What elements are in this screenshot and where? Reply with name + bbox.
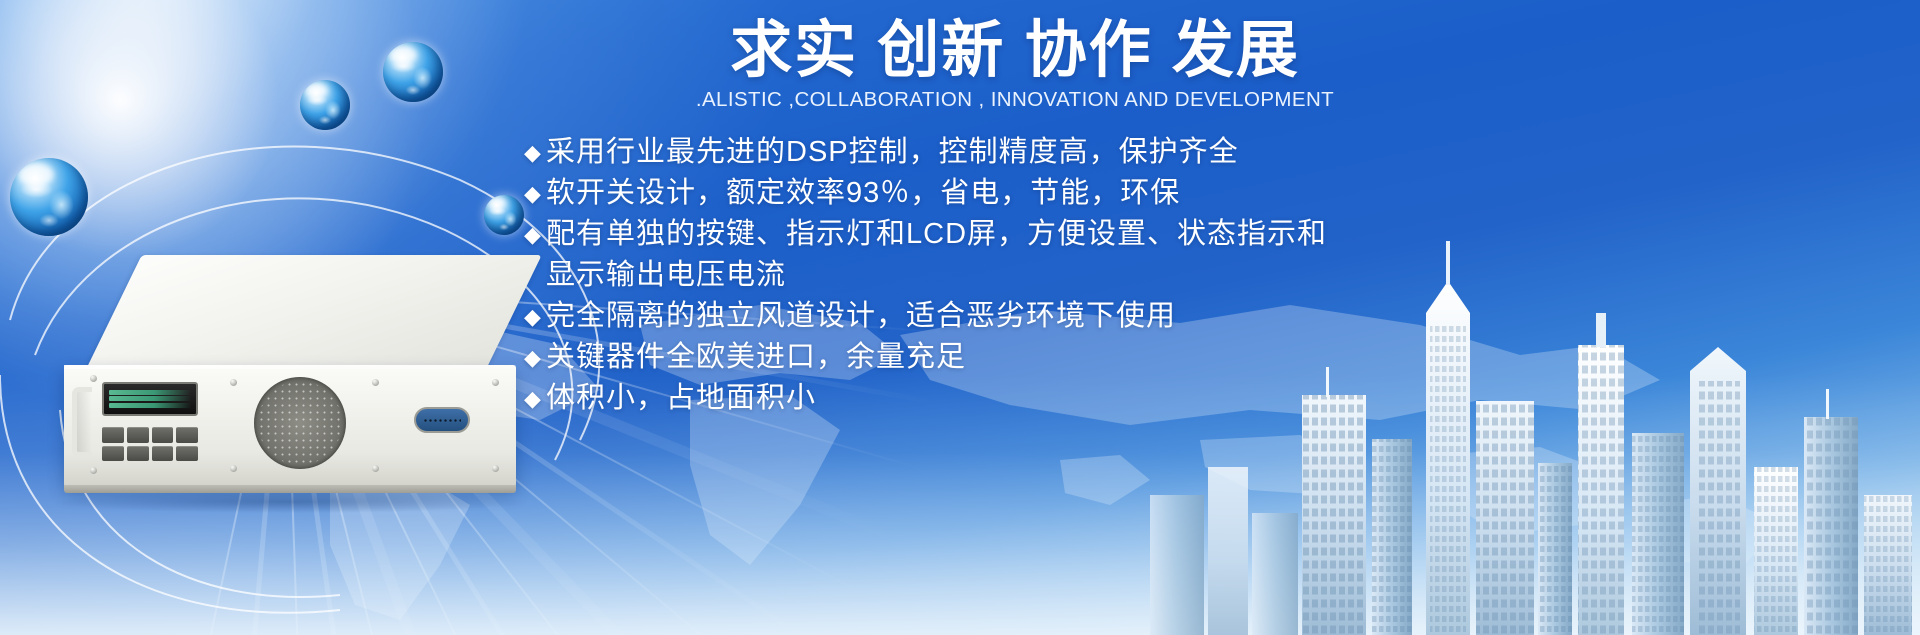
- screw: [230, 465, 237, 472]
- subheadline: .ALISTIC ,COLLABORATION , INNOVATION AND…: [515, 88, 1515, 112]
- diamond-bullet-icon: ◆: [524, 378, 546, 419]
- feature-text: 完全隔离的独立风道设计，适合恶劣环境下使用: [546, 296, 1176, 337]
- ventilation-fan: [254, 377, 346, 469]
- lcd-display: [102, 382, 198, 416]
- screw: [90, 375, 97, 382]
- diamond-bullet-icon: ◆: [524, 337, 546, 378]
- product-bottom-edge: [64, 485, 516, 493]
- globe-icon: [10, 158, 88, 236]
- screw: [90, 467, 97, 474]
- screw: [492, 379, 499, 386]
- feature-text: 关键器件全欧美进口，余量充足: [546, 337, 966, 378]
- keypad: [102, 427, 198, 461]
- feature-text: 体积小，占地面积小: [546, 378, 816, 419]
- feature-text: 采用行业最先进的DSP控制，控制精度高，保护齐全: [546, 132, 1239, 173]
- diamond-bullet-icon: ◆: [524, 296, 546, 337]
- feature-item: ◆ 配有单独的按键、指示灯和LCD屏，方便设置、状态指示和: [524, 214, 1515, 255]
- feature-item: ◆ 完全隔离的独立风道设计，适合恶劣环境下使用: [524, 296, 1515, 337]
- screw: [372, 379, 379, 386]
- product-banner: 求实 创新 协作 发展 .ALISTIC ,COLLABORATION , IN…: [0, 0, 1920, 635]
- globe-icon: [383, 42, 443, 102]
- rack-mount-power-supply: [55, 255, 515, 535]
- feature-text: 软开关设计，额定效率93％，省电，节能，环保: [546, 173, 1180, 214]
- banner-text: 求实 创新 协作 发展 .ALISTIC ,COLLABORATION , IN…: [515, 14, 1515, 419]
- feature-item: ◆ 关键器件全欧美进口，余量充足: [524, 337, 1515, 378]
- feature-item: ◆ 体积小，占地面积小: [524, 378, 1515, 419]
- feature-item-continuation: ◆ 显示输出电压电流: [524, 255, 1515, 296]
- screw: [372, 465, 379, 472]
- feature-text: 显示输出电压电流: [546, 255, 786, 296]
- product-shadow: [55, 491, 525, 513]
- feature-item: ◆ 采用行业最先进的DSP控制，控制精度高，保护齐全: [524, 132, 1515, 173]
- screw: [230, 379, 237, 386]
- product-front-panel: [64, 365, 516, 487]
- screw: [492, 465, 499, 472]
- headline: 求实 创新 协作 发展: [515, 14, 1515, 87]
- diamond-bullet-icon: ◆: [524, 214, 546, 255]
- globe-icon: [300, 80, 350, 130]
- rack-handle: [72, 387, 92, 457]
- diamond-bullet-icon: ◆: [524, 173, 546, 214]
- product-top-panel: [84, 255, 542, 373]
- feature-text: 配有单独的按键、指示灯和LCD屏，方便设置、状态指示和: [546, 214, 1327, 255]
- feature-list: ◆ 采用行业最先进的DSP控制，控制精度高，保护齐全 ◆ 软开关设计，额定效率9…: [515, 132, 1515, 419]
- diamond-bullet-icon: ◆: [524, 132, 546, 173]
- db9-serial-port: [414, 407, 470, 433]
- feature-item: ◆ 软开关设计，额定效率93％，省电，节能，环保: [524, 173, 1515, 214]
